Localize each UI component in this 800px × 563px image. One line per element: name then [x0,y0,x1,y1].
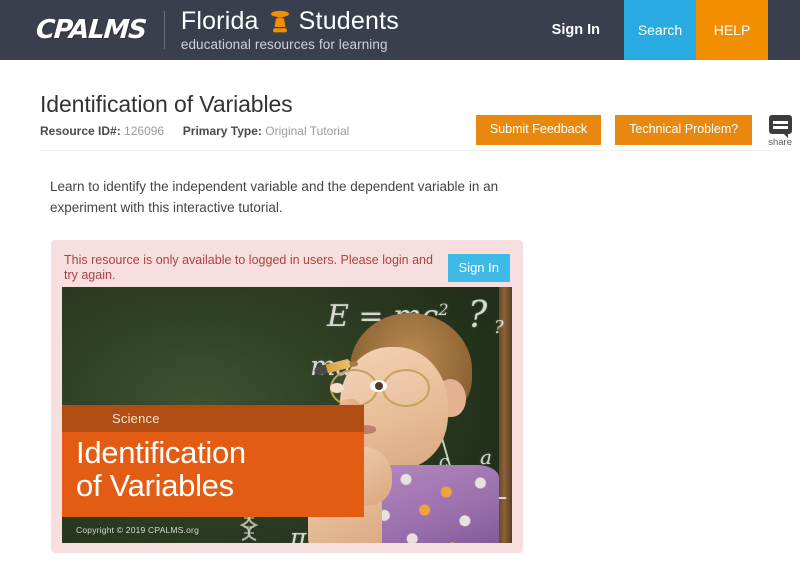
action-buttons: Submit Feedback Technical Problem? share [476,115,792,148]
resource-id-value: 126096 [124,124,164,138]
brand-florida-label: Florida [181,8,259,34]
alert-sign-in-button[interactable]: Sign In [448,254,510,282]
thumbnail-category-label: Science [112,411,160,426]
header-help-button[interactable]: HELP [696,0,768,60]
header-nav: Sign In Search HELP [528,0,800,60]
tutorial-thumbnail[interactable]: E = mc2 ma = n ∑ Fi i=1 b² = c² πR² π = … [62,287,512,543]
thumbnail-title-line1: Identification [76,436,354,469]
login-alert: This resource is only available to logge… [64,253,510,283]
submit-feedback-button[interactable]: Submit Feedback [476,115,601,145]
thumbnail-title-line2: of Variables [76,469,354,502]
logo-divider [164,11,165,49]
page-title: Identification of Variables [40,92,349,117]
resource-description: Learn to identify the independent variab… [50,177,510,219]
eyeglass-lens-right [382,369,430,407]
technical-problem-button[interactable]: Technical Problem? [615,115,752,145]
share-icon-bar [773,126,788,129]
primary-type-value: Original Tutorial [265,124,349,138]
thumbnail-copyright: Copyright © 2019 CPALMS.org [76,525,199,535]
login-required-panel: This resource is only available to logge… [51,240,523,553]
header-spacer [399,0,528,60]
login-alert-text: This resource is only available to logge… [64,253,438,283]
brand-text: Florida Students educational resources f… [181,8,399,51]
share-label: share [768,137,792,148]
cpalms-logo[interactable]: CPALMS [35,17,147,43]
thumbnail-title-overlay: Identification of Variables [62,432,364,517]
header-search-button[interactable]: Search [624,0,696,60]
primary-type-label: Primary Type: [183,124,262,138]
share-control[interactable]: share [768,115,792,148]
thumbnail-category-bar: Science [62,405,364,432]
header-sign-in-link[interactable]: Sign In [528,0,624,60]
brand-zone[interactable]: CPALMS Florida Students educational reso… [0,0,399,60]
brand-title-line: Florida Students [181,8,399,34]
brand-students-label: Students [299,8,399,34]
resource-id-label: Resource ID#: [40,124,121,138]
share-icon-bar [773,121,788,124]
student-eye-far [330,383,344,393]
header-divider [40,150,790,151]
resource-meta: Resource ID#: 126096 Primary Type: Origi… [40,124,349,138]
header-tail-spacer [768,0,800,60]
graduation-cap-icon [270,10,290,34]
student-eye-near [370,380,387,392]
share-icon[interactable] [769,115,792,134]
brand-tagline: educational resources for learning [181,37,399,52]
site-header: CPALMS Florida Students educational reso… [0,0,800,60]
title-block: Identification of Variables Resource ID#… [40,92,349,138]
